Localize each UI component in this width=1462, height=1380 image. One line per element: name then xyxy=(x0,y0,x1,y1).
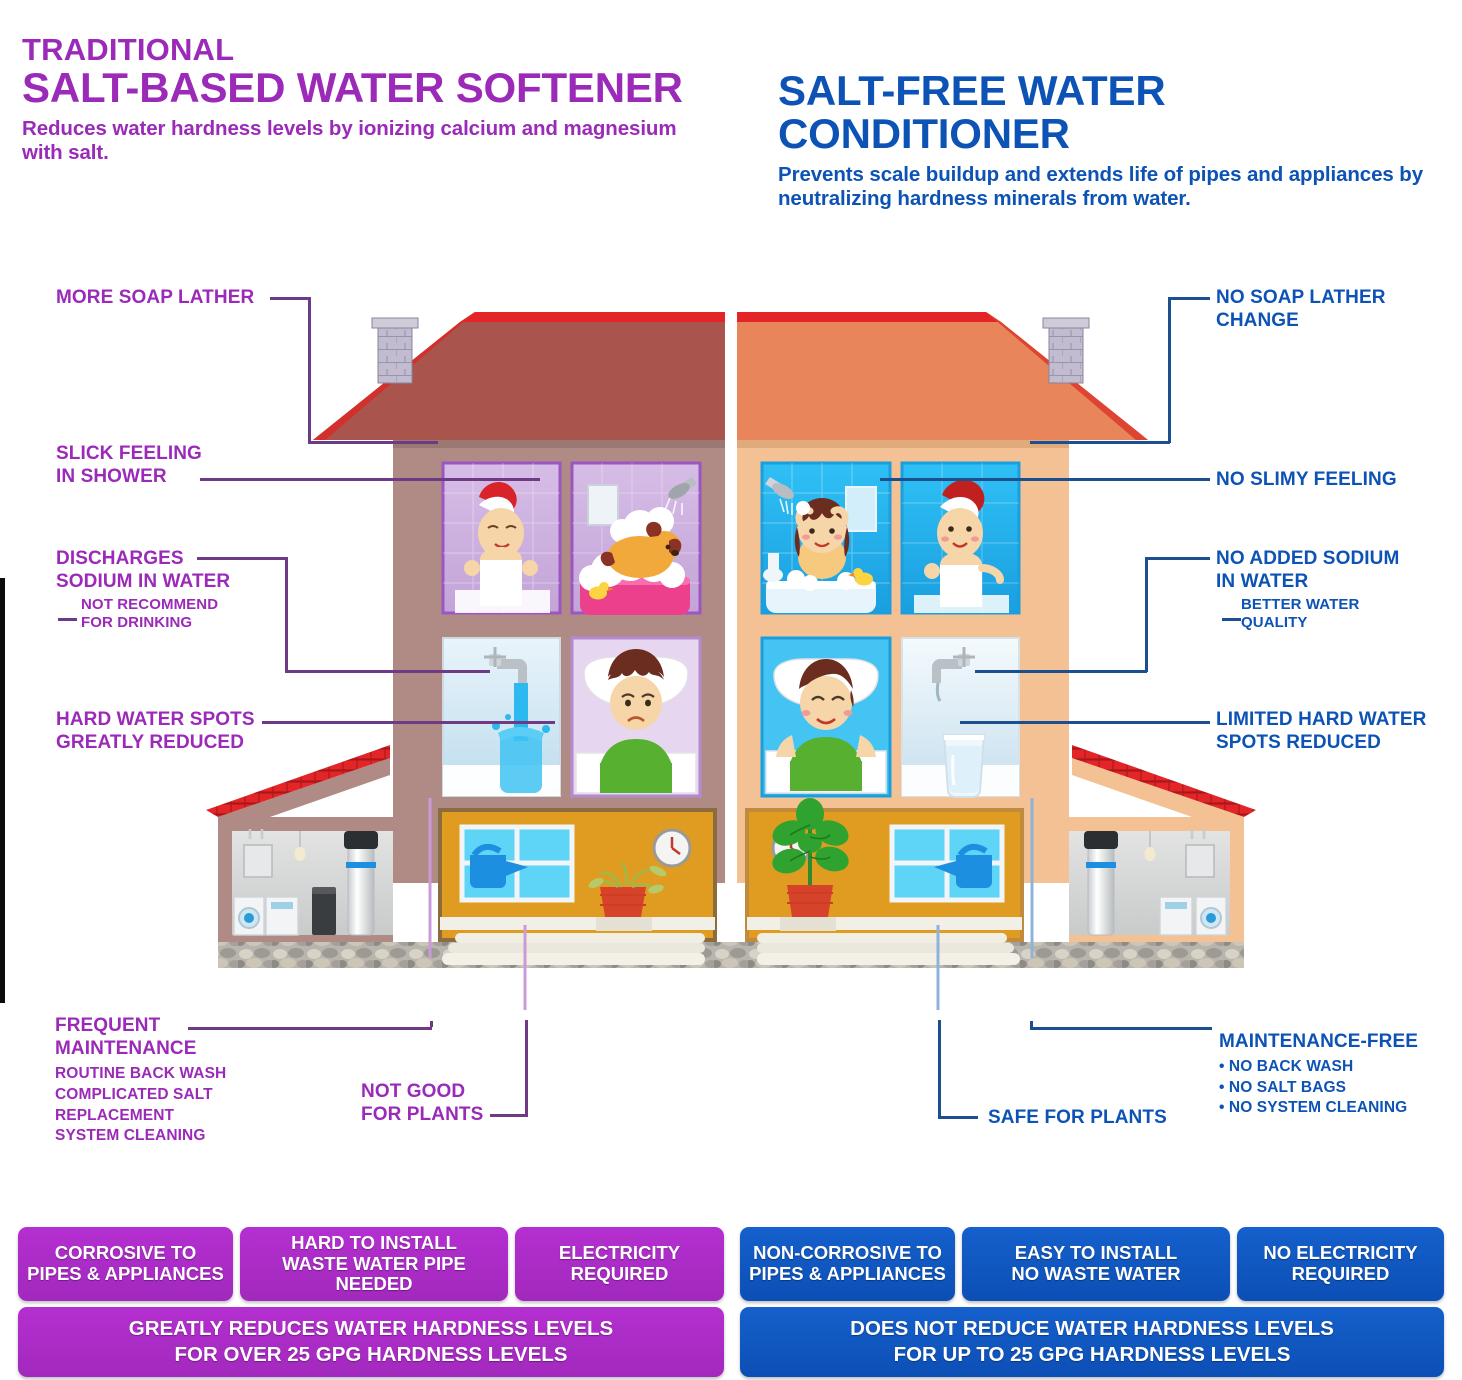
label-safe-for-plants: SAFE FOR PLANTS xyxy=(988,1106,1167,1129)
label-not-recommend-line2: FOR DRINKING xyxy=(81,614,230,632)
bar-line: REQUIRED xyxy=(553,1264,686,1285)
right-scene-woman-towel-happy xyxy=(902,463,1019,613)
bar-line: NO ELECTRICITY xyxy=(1257,1243,1423,1264)
bar-line: NEEDED xyxy=(276,1274,472,1295)
label-hard-water-spots: HARD WATER SPOTS GREATLY REDUCED xyxy=(56,708,255,754)
right-house-chimney xyxy=(1043,318,1089,383)
label-discharges-line2: SODIUM IN WATER xyxy=(56,570,230,593)
connector-no-slimy-feeling xyxy=(880,478,1210,481)
connector-no-soap-lather-h2 xyxy=(1030,441,1170,444)
connector-not-good-plants-v xyxy=(525,1020,528,1116)
label-no-added-sodium-line2: IN WATER xyxy=(1216,570,1399,593)
label-no-added-sodium: NO ADDED SODIUM IN WATER BETTER WATER QU… xyxy=(1216,547,1399,632)
bar-line: HARD TO INSTALL xyxy=(276,1233,472,1254)
left-scene-boy-bed-unhappy xyxy=(572,638,700,796)
right-header-title-strong: SALT-FREE xyxy=(778,67,1006,114)
label-not-recommend-line1: NOT RECOMMEND xyxy=(81,596,230,614)
connector-no-added-sodium-v xyxy=(1145,557,1148,672)
connector-safe-plants-v xyxy=(938,1020,941,1118)
left-scene-dog-bath xyxy=(572,463,700,615)
left-house xyxy=(206,312,725,942)
label-no-added-sodium-line1: NO ADDED SODIUM xyxy=(1216,547,1399,570)
connector-more-soap-lather-h2 xyxy=(308,441,438,444)
label-not-good-for-plants-line2: FOR PLANTS xyxy=(361,1103,483,1126)
bar-electricity-required[interactable]: ELECTRICITY REQUIRED xyxy=(515,1227,724,1301)
bar-line: PIPES & APPLIANCES xyxy=(743,1264,952,1285)
label-not-good-for-plants: NOT GOOD FOR PLANTS xyxy=(361,1080,483,1126)
left-scene-living-room xyxy=(440,810,715,940)
left-scene-woman-towel xyxy=(443,463,560,613)
right-scene-living-room xyxy=(747,798,1022,940)
label-no-soap-lather-line2: CHANGE xyxy=(1216,309,1386,332)
bar-non-corrosive-to-pipes[interactable]: NON-CORROSIVE TO PIPES & APPLIANCES xyxy=(740,1227,955,1301)
bar-greatly-reduces-hardness[interactable]: GREATLY REDUCES WATER HARDNESS LEVELS FO… xyxy=(18,1307,724,1377)
bar-line: CORROSIVE TO xyxy=(21,1243,230,1264)
connector-no-soap-lather-h1 xyxy=(1168,297,1210,300)
connector-discharges-h2 xyxy=(285,670,490,673)
bar-easy-to-install[interactable]: EASY TO INSTALL NO WASTE WATER xyxy=(962,1227,1230,1301)
right-scene-girl-shower xyxy=(762,463,890,613)
left-header-title-strong: SALT-BASED xyxy=(22,64,285,111)
connector-discharges-v xyxy=(285,557,288,672)
right-garage xyxy=(1069,745,1256,942)
label-more-soap-lather-line1: MORE SOAP LATHER xyxy=(56,286,254,309)
bar-corrosive-to-pipes[interactable]: CORROSIVE TO PIPES & APPLIANCES xyxy=(18,1227,233,1301)
right-house-roof xyxy=(737,312,1148,440)
connector-no-soap-lather-v xyxy=(1168,297,1171,443)
left-header-title: SALT-BASED WATER SOFTENER xyxy=(22,67,722,110)
label-maintenance-free: MAINTENANCE-FREE • NO BACK WASH • NO SAL… xyxy=(1219,1030,1418,1119)
connector-not-good-plants-h xyxy=(490,1114,528,1117)
label-slick-feeling-line2: IN SHOWER xyxy=(56,465,202,488)
label-frequent-maintenance: FREQUENT MAINTENANCE ROUTINE BACK WASH C… xyxy=(55,1014,226,1147)
list-item: • NO SYSTEM CLEANING xyxy=(1219,1098,1418,1119)
label-discharges-sodium: DISCHARGES SODIUM IN WATER NOT RECOMMEND… xyxy=(56,547,230,632)
label-no-soap-lather-change: NO SOAP LATHER CHANGE xyxy=(1216,286,1386,332)
comparison-bars: CORROSIVE TO PIPES & APPLIANCES HARD TO … xyxy=(0,1207,1462,1372)
bar-line: PIPES & APPLIANCES xyxy=(21,1264,230,1285)
right-house xyxy=(737,312,1256,942)
label-frequent-maintenance-line2: MAINTENANCE xyxy=(55,1037,226,1060)
bar-line: REQUIRED xyxy=(1257,1264,1423,1285)
left-header-subtitle: Reduces water hardness levels by ionizin… xyxy=(22,117,722,165)
right-header: SALT-FREE WATER CONDITIONER Prevents sca… xyxy=(778,70,1462,211)
bar-line: FOR UP TO 25 GPG HARDNESS LEVELS xyxy=(844,1342,1340,1368)
label-frequent-maintenance-items: ROUTINE BACK WASH COMPLICATED SALT REPLA… xyxy=(55,1064,226,1146)
label-maintenance-free-title: MAINTENANCE-FREE xyxy=(1219,1030,1418,1053)
label-discharges-line1: DISCHARGES xyxy=(56,547,230,570)
left-scene-faucet xyxy=(443,638,560,796)
bar-line: DOES NOT REDUCE WATER HARDNESS LEVELS xyxy=(844,1316,1340,1342)
left-garage xyxy=(206,745,393,942)
left-house-chimney xyxy=(372,318,418,383)
list-item: REPLACEMENT xyxy=(55,1106,226,1127)
label-more-soap-lather: MORE SOAP LATHER xyxy=(56,286,254,309)
label-limited-spots-line1: LIMITED HARD WATER xyxy=(1216,708,1426,731)
label-better-water-line2: QUALITY xyxy=(1241,614,1399,632)
bar-line: FOR OVER 25 GPG HARDNESS LEVELS xyxy=(123,1342,619,1368)
right-scene-faucet-glass xyxy=(902,638,1019,797)
label-slick-feeling-line1: SLICK FEELING xyxy=(56,442,202,465)
bar-does-not-reduce-hardness[interactable]: DOES NOT REDUCE WATER HARDNESS LEVELS FO… xyxy=(740,1307,1444,1377)
list-item: • NO BACK WASH xyxy=(1219,1057,1418,1078)
list-item: COMPLICATED SALT xyxy=(55,1085,226,1106)
bar-line: EASY TO INSTALL xyxy=(1005,1243,1186,1264)
connector-no-added-sodium-h2 xyxy=(975,670,1147,673)
label-limited-spots-line2: SPOTS REDUCED xyxy=(1216,731,1426,754)
list-item: ROUTINE BACK WASH xyxy=(55,1064,226,1085)
connector-no-added-sodium-h1 xyxy=(1145,557,1210,560)
label-no-slimy-feeling-line1: NO SLIMY FEELING xyxy=(1216,468,1397,491)
bar-line: NO WASTE WATER xyxy=(1005,1264,1186,1285)
connector-more-soap-lather-v xyxy=(308,297,311,443)
bar-hard-to-install[interactable]: HARD TO INSTALL WASTE WATER PIPE NEEDED xyxy=(240,1227,508,1301)
bar-no-electricity-required[interactable]: NO ELECTRICITY REQUIRED xyxy=(1237,1227,1444,1301)
label-safe-for-plants-line1: SAFE FOR PLANTS xyxy=(988,1106,1167,1129)
label-hard-water-spots-line1: HARD WATER SPOTS xyxy=(56,708,255,731)
connector-maintenance-free-h xyxy=(1030,1027,1212,1030)
label-hard-water-spots-line2: GREATLY REDUCED xyxy=(56,731,255,754)
left-house-roof xyxy=(313,312,725,440)
bar-line: GREATLY REDUCES WATER HARDNESS LEVELS xyxy=(123,1316,619,1342)
left-header: TRADITIONAL SALT-BASED WATER SOFTENER Re… xyxy=(22,34,722,165)
label-better-water-line1: BETTER WATER xyxy=(1241,596,1399,614)
list-item: SYSTEM CLEANING xyxy=(55,1126,226,1147)
bar-line: WASTE WATER PIPE xyxy=(276,1254,472,1275)
label-maintenance-free-items: • NO BACK WASH • NO SALT BAGS • NO SYSTE… xyxy=(1219,1057,1418,1119)
house-cutaway-illustration xyxy=(0,265,1462,1010)
label-limited-hard-water-spots: LIMITED HARD WATER SPOTS REDUCED xyxy=(1216,708,1426,754)
label-not-good-for-plants-line1: NOT GOOD xyxy=(361,1080,483,1103)
bar-line: ELECTRICITY xyxy=(553,1243,686,1264)
connector-safe-plants-h xyxy=(938,1116,978,1119)
right-header-title: SALT-FREE WATER CONDITIONER xyxy=(778,70,1462,156)
connector-more-soap-lather-h1 xyxy=(270,297,310,300)
connector-hard-water-spots xyxy=(262,721,555,724)
label-no-soap-lather-line1: NO SOAP LATHER xyxy=(1216,286,1386,309)
list-item: • NO SALT BAGS xyxy=(1219,1078,1418,1099)
connector-slick-feeling xyxy=(200,478,540,481)
label-slick-feeling: SLICK FEELING IN SHOWER xyxy=(56,442,202,488)
left-header-title-rest: WATER SOFTENER xyxy=(297,64,683,111)
label-no-slimy-feeling: NO SLIMY FEELING xyxy=(1216,468,1397,491)
label-frequent-maintenance-line1: FREQUENT xyxy=(55,1014,226,1037)
connector-limited-spots xyxy=(960,721,1210,724)
left-header-eyebrow: TRADITIONAL xyxy=(22,34,722,67)
right-scene-boy-bed-happy xyxy=(762,638,890,796)
right-header-subtitle: Prevents scale buildup and extends life … xyxy=(778,163,1462,211)
bar-line: NON-CORROSIVE TO xyxy=(743,1243,952,1264)
